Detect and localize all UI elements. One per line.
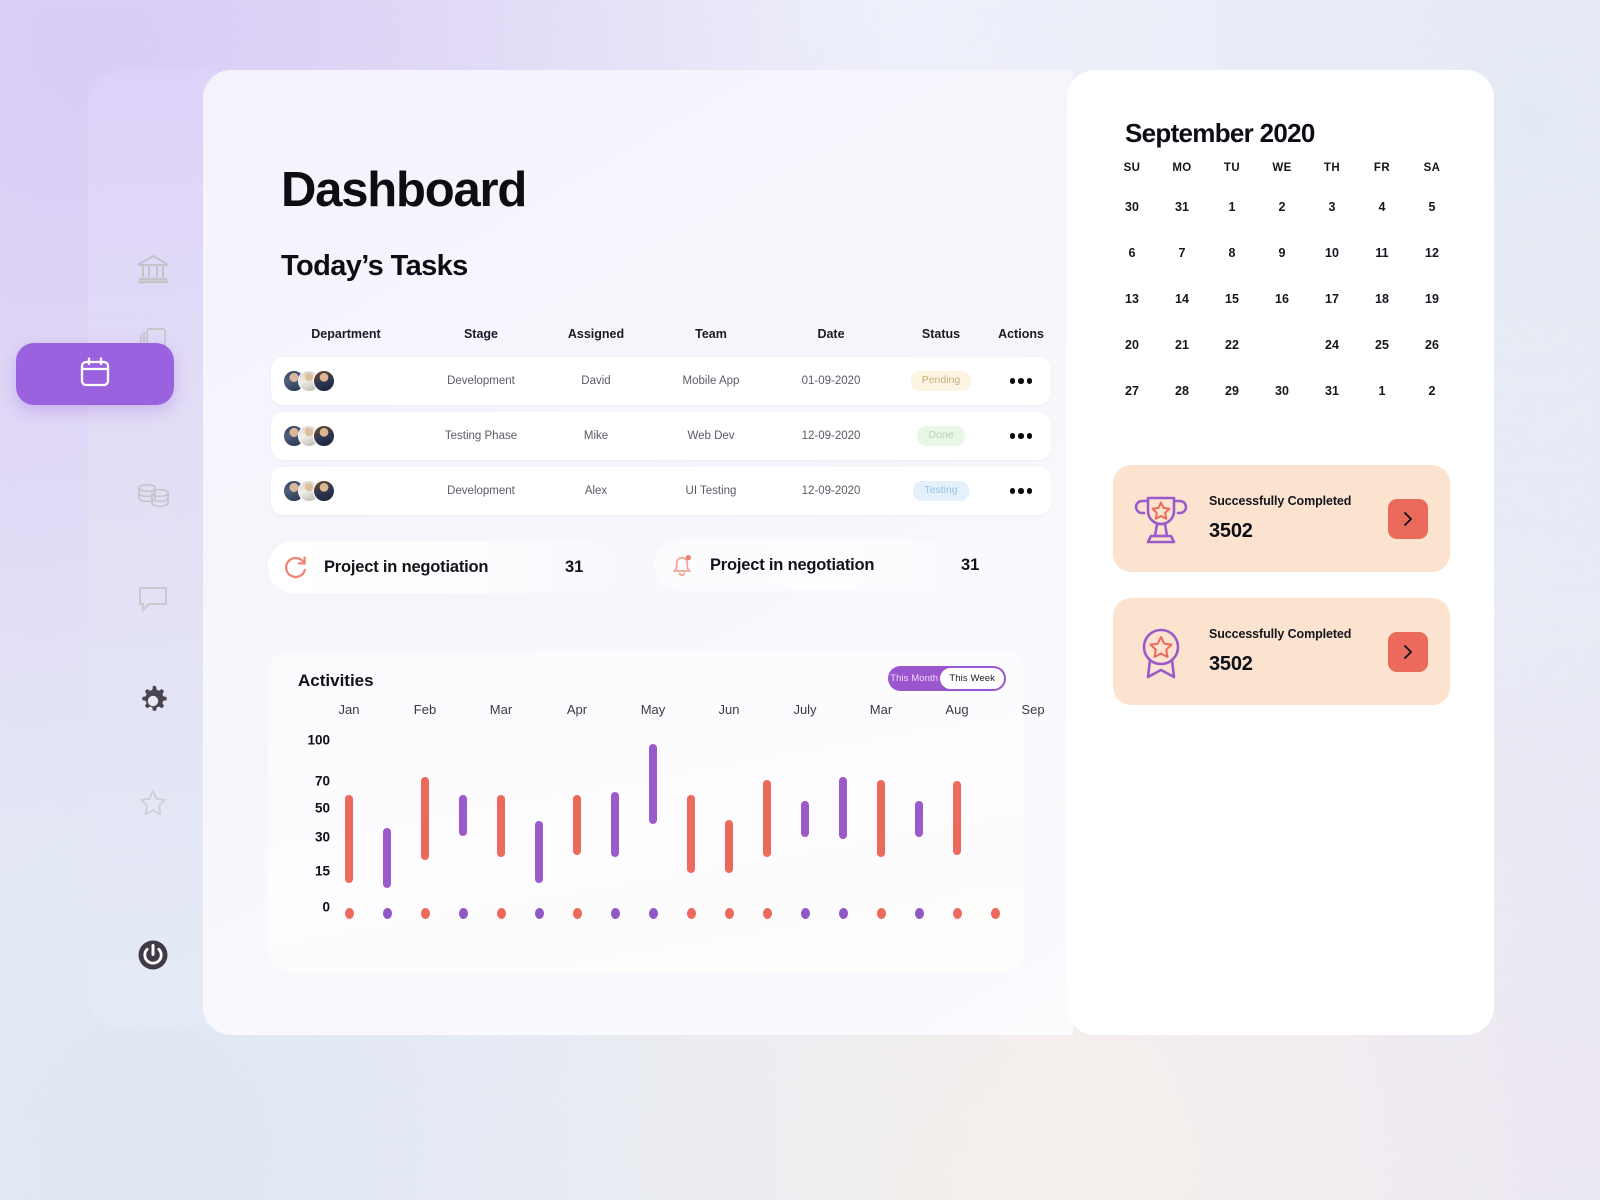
calendar-day-label: 13 xyxy=(1125,292,1139,306)
chart-bar xyxy=(535,821,543,883)
bank-icon xyxy=(136,253,170,285)
calendar-day-label: 14 xyxy=(1175,292,1189,306)
calendar-day[interactable]: 7 xyxy=(1157,240,1207,266)
calendar-day[interactable]: 19 xyxy=(1407,286,1457,312)
cell-stage: Testing Phase xyxy=(421,430,541,442)
calendar-day-label: 31 xyxy=(1325,384,1339,398)
cell-team: Mobile App xyxy=(651,375,771,387)
calendar-day-label: 7 xyxy=(1179,246,1186,260)
x-axis-tick-label: Feb xyxy=(414,702,436,717)
calendar-grid: SU MO TU WE TH FR SA 3031123456789101112… xyxy=(1107,162,1457,404)
project-negotiation-card[interactable]: Project in negotiation 31 xyxy=(654,539,1004,591)
calendar-day[interactable]: 24 xyxy=(1307,332,1357,358)
status-badge: Pending xyxy=(911,371,972,391)
cell-stage: Development xyxy=(421,375,541,387)
trophy-icon xyxy=(1113,488,1209,550)
calendar-day-selected[interactable]: 23 xyxy=(1257,332,1307,358)
chart-baseline-dot xyxy=(497,908,506,919)
calendar-day[interactable]: 30 xyxy=(1257,378,1307,404)
range-toggle[interactable]: This Month This Week xyxy=(888,666,1006,691)
sidebar-item-calendar[interactable] xyxy=(16,343,174,405)
y-axis-tick-label: 70 xyxy=(315,774,330,789)
chart-baseline-dot xyxy=(459,908,468,919)
chart-baseline-dot xyxy=(801,908,810,919)
stat-arrow-button[interactable] xyxy=(1388,499,1428,539)
table-header-row: Department Stage Assigned Team Date Stat… xyxy=(271,318,1051,350)
calendar-day[interactable]: 21 xyxy=(1157,332,1207,358)
calendar-day[interactable]: 6 xyxy=(1107,240,1157,266)
x-axis-tick-label: Mar xyxy=(490,702,512,717)
calendar-day-label: 31 xyxy=(1175,200,1189,214)
chart-bar xyxy=(763,780,771,858)
sidebar-item-favorites[interactable] xyxy=(114,772,192,834)
calendar-day-label: 30 xyxy=(1125,200,1139,214)
section-title: Today’s Tasks xyxy=(281,250,468,283)
column-header-department: Department xyxy=(271,327,421,341)
calendar-day[interactable]: 29 xyxy=(1207,378,1257,404)
chart-bar xyxy=(687,795,695,874)
calendar-day-label: 2 xyxy=(1429,384,1436,398)
calendar-week-row: 13141516171819 xyxy=(1107,286,1457,312)
database-icon xyxy=(136,481,170,509)
table-row[interactable]: Development Alex UI Testing 12-09-2020 T… xyxy=(271,467,1051,515)
chart-baseline-dot xyxy=(345,908,354,919)
avatar-group xyxy=(271,425,421,447)
row-actions-button[interactable] xyxy=(991,433,1051,439)
calendar-day-label: 25 xyxy=(1375,338,1389,352)
activities-chart-card: Activities This Month This Week JanFebMa… xyxy=(268,650,1024,972)
chart-baseline-dot xyxy=(611,908,620,919)
project-negotiation-card[interactable]: Project in negotiation 31 xyxy=(268,541,618,593)
table-row[interactable]: Testing Phase Mike Web Dev 12-09-2020 Do… xyxy=(271,412,1051,460)
stat-label: Successfully Completed xyxy=(1209,494,1388,508)
status-badge: Testing xyxy=(913,481,968,501)
tasks-table: Department Stage Assigned Team Date Stat… xyxy=(271,318,1051,515)
chart-baseline-dot xyxy=(649,908,658,919)
chart-baseline-dot xyxy=(953,908,962,919)
chart-bar xyxy=(459,795,467,836)
calendar-day-label: 2 xyxy=(1279,200,1286,214)
cell-assigned: Mike xyxy=(541,430,651,442)
calendar-day-label: 4 xyxy=(1379,200,1386,214)
calendar-day-label: 1 xyxy=(1379,384,1386,398)
column-header-date: Date xyxy=(771,327,891,341)
calendar-week-row: 303112345 xyxy=(1107,194,1457,220)
calendar-day-label: 1 xyxy=(1229,200,1236,214)
cell-team: Web Dev xyxy=(651,430,771,442)
calendar-day[interactable]: 9 xyxy=(1257,240,1307,266)
more-options-icon[interactable] xyxy=(991,378,1051,384)
calendar-day[interactable]: 10 xyxy=(1307,240,1357,266)
calendar-day[interactable]: 20 xyxy=(1107,332,1157,358)
stat-body: Successfully Completed 3502 xyxy=(1209,494,1388,543)
x-axis-tick-label: July xyxy=(793,702,816,717)
chart-baseline-dot xyxy=(915,908,924,919)
bell-icon xyxy=(654,550,710,580)
cell-assigned: David xyxy=(541,375,651,387)
toggle-this-month[interactable]: This Month xyxy=(888,673,940,684)
chart-bar xyxy=(421,777,429,860)
calendar-day[interactable]: 27 xyxy=(1107,378,1157,404)
calendar-day[interactable]: 1 xyxy=(1357,378,1407,404)
calendar-day-label: 28 xyxy=(1175,384,1189,398)
chart-baseline-dot xyxy=(877,908,886,919)
calendar-day-label: 26 xyxy=(1425,338,1439,352)
calendar-day-label: 9 xyxy=(1279,246,1286,260)
more-options-icon[interactable] xyxy=(991,433,1051,439)
sidebar-item-logout[interactable] xyxy=(114,924,192,986)
chart-bar xyxy=(649,744,657,824)
calendar-day-label: 29 xyxy=(1225,384,1239,398)
weekday-tu: TU xyxy=(1207,162,1257,174)
chart-bar xyxy=(953,781,961,855)
calendar-day[interactable]: 8 xyxy=(1207,240,1257,266)
calendar-day[interactable]: 28 xyxy=(1157,378,1207,404)
calendar-day-label: 15 xyxy=(1225,292,1239,306)
calendar-day[interactable]: 16 xyxy=(1257,286,1307,312)
calendar-day[interactable]: 18 xyxy=(1357,286,1407,312)
stat-label: Successfully Completed xyxy=(1209,627,1388,641)
stat-value: 3502 xyxy=(1209,653,1388,676)
chart-bar xyxy=(915,801,923,837)
negotiation-count: 31 xyxy=(565,558,583,577)
calendar-week-row: 20212223242526 xyxy=(1107,332,1457,358)
chevron-right-icon xyxy=(1401,510,1415,528)
calendar-day[interactable]: 3 xyxy=(1307,194,1357,220)
column-header-actions: Actions xyxy=(991,327,1051,341)
weekday-we: WE xyxy=(1257,162,1307,174)
toggle-this-week[interactable]: This Week xyxy=(940,668,1004,689)
x-axis-tick-label: Mar xyxy=(870,702,892,717)
chart-plot-area xyxy=(330,740,1014,940)
calendar-day-label: 12 xyxy=(1425,246,1439,260)
calendar-icon xyxy=(78,355,112,394)
sidebar xyxy=(88,70,218,1030)
stat-arrow-button[interactable] xyxy=(1388,632,1428,672)
cell-date: 12-09-2020 xyxy=(771,430,891,442)
calendar-day-label: 8 xyxy=(1229,246,1236,260)
avatar xyxy=(313,425,335,447)
chart-bar xyxy=(877,780,885,858)
calendar-day-label: 11 xyxy=(1375,246,1388,260)
column-header-team: Team xyxy=(651,327,771,341)
calendar-day-label: 24 xyxy=(1325,338,1339,352)
stat-card[interactable]: Successfully Completed 3502 xyxy=(1113,465,1450,572)
cell-team: UI Testing xyxy=(651,485,771,497)
column-header-status: Status xyxy=(891,327,991,341)
sidebar-item-database[interactable] xyxy=(114,464,192,526)
calendar-month-title: September 2020 xyxy=(1125,118,1315,149)
weekday-mo: MO xyxy=(1157,162,1207,174)
x-axis-tick-label: Sep xyxy=(1021,702,1044,717)
x-axis-tick-label: Jun xyxy=(719,702,740,717)
calendar-day-label: 17 xyxy=(1325,292,1339,306)
chart-bar xyxy=(573,795,581,856)
x-axis-tick-label: May xyxy=(641,702,666,717)
chart-bar xyxy=(497,795,505,858)
calendar-day[interactable]: 30 xyxy=(1107,194,1157,220)
stat-card[interactable]: Successfully Completed 3502 xyxy=(1113,598,1450,705)
cell-status: Testing xyxy=(891,481,991,501)
calendar-day[interactable]: 31 xyxy=(1157,194,1207,220)
calendar-day-label: 10 xyxy=(1325,246,1339,260)
calendar-day-label: 3 xyxy=(1329,200,1336,214)
table-row[interactable]: Development David Mobile App 01-09-2020 … xyxy=(271,357,1051,405)
calendar-day[interactable]: 14 xyxy=(1157,286,1207,312)
calendar-day-label: 18 xyxy=(1375,292,1389,306)
calendar-day[interactable]: 2 xyxy=(1407,378,1457,404)
y-axis-tick-label: 0 xyxy=(322,900,330,915)
calendar-day-label: 6 xyxy=(1129,246,1136,260)
avatar xyxy=(313,480,335,502)
sidebar-item-bank[interactable] xyxy=(114,238,192,300)
chart-x-axis: JanFebMarAprMayJunJulyMarAugSepOctNov xyxy=(268,702,1024,722)
calendar-weekday-headers: SU MO TU WE TH FR SA xyxy=(1107,162,1457,174)
column-header-assigned: Assigned xyxy=(541,327,651,341)
power-icon xyxy=(137,939,169,971)
chat-icon xyxy=(137,584,169,614)
stat-body: Successfully Completed 3502 xyxy=(1209,627,1388,676)
calendar-day-label: 27 xyxy=(1125,384,1139,398)
calendar-day-label: 5 xyxy=(1429,200,1436,214)
cell-status: Pending xyxy=(891,371,991,391)
calendar-weeks: 3031123456789101112131415161718192021222… xyxy=(1107,194,1457,404)
status-badge: Done xyxy=(917,426,964,446)
row-actions-button[interactable] xyxy=(991,488,1051,494)
chart-bar xyxy=(383,828,391,888)
weekday-fr: FR xyxy=(1357,162,1407,174)
calendar-day[interactable]: 2 xyxy=(1257,194,1307,220)
cell-status: Done xyxy=(891,426,991,446)
calendar-week-row: 272829303112 xyxy=(1107,378,1457,404)
calendar-day-label: 21 xyxy=(1175,338,1189,352)
calendar-day[interactable]: 11 xyxy=(1357,240,1407,266)
negotiation-label: Project in negotiation xyxy=(710,556,874,575)
calendar-day-label: 22 xyxy=(1225,338,1239,352)
cell-assigned: Alex xyxy=(541,485,651,497)
calendar-day[interactable]: 5 xyxy=(1407,194,1457,220)
calendar-day[interactable]: 31 xyxy=(1307,378,1357,404)
chevron-right-icon xyxy=(1401,643,1415,661)
calendar-day[interactable]: 17 xyxy=(1307,286,1357,312)
avatar-group xyxy=(271,370,421,392)
calendar-day-label: 23 xyxy=(1275,338,1288,352)
x-axis-tick-label: Jan xyxy=(339,702,360,717)
column-header-stage: Stage xyxy=(421,327,541,341)
weekday-th: TH xyxy=(1307,162,1357,174)
more-options-icon[interactable] xyxy=(991,488,1051,494)
y-axis-tick-label: 100 xyxy=(307,733,330,748)
weekday-sa: SA xyxy=(1407,162,1457,174)
star-icon xyxy=(138,788,168,818)
chart-baseline-dot xyxy=(687,908,696,919)
stat-value: 3502 xyxy=(1209,520,1388,543)
page-title: Dashboard xyxy=(281,162,526,218)
sidebar-item-settings[interactable] xyxy=(114,670,192,732)
weekday-su: SU xyxy=(1107,162,1157,174)
avatar xyxy=(313,370,335,392)
refresh-icon xyxy=(268,553,324,581)
calendar-day[interactable]: 25 xyxy=(1357,332,1407,358)
chart-baseline-dot xyxy=(763,908,772,919)
calendar-day-label: 19 xyxy=(1425,292,1439,306)
x-axis-tick-label: Apr xyxy=(567,702,587,717)
y-axis-tick-label: 30 xyxy=(315,830,330,845)
negotiation-count: 31 xyxy=(961,556,979,575)
chart-baseline-dot xyxy=(421,908,430,919)
calendar-day[interactable]: 22 xyxy=(1207,332,1257,358)
chart-baseline-dot xyxy=(725,908,734,919)
avatar-group xyxy=(271,480,421,502)
row-actions-button[interactable] xyxy=(991,378,1051,384)
chart-bar xyxy=(345,795,353,884)
chart-bar xyxy=(725,820,733,874)
activities-title: Activities xyxy=(298,671,374,691)
calendar-day-label: 30 xyxy=(1275,384,1289,398)
calendar-day[interactable]: 4 xyxy=(1357,194,1407,220)
cell-date: 12-09-2020 xyxy=(771,485,891,497)
calendar-day[interactable]: 12 xyxy=(1407,240,1457,266)
calendar-day[interactable]: 26 xyxy=(1407,332,1457,358)
chart-baseline-dot xyxy=(839,908,848,919)
chart-baseline-dot xyxy=(535,908,544,919)
gear-icon xyxy=(136,684,170,718)
negotiation-label: Project in negotiation xyxy=(324,558,488,577)
award-ribbon-icon xyxy=(1113,621,1209,683)
chart-bar xyxy=(611,792,619,858)
chart-baseline-dot xyxy=(573,908,582,919)
calendar-day[interactable]: 15 xyxy=(1207,286,1257,312)
y-axis-tick-label: 50 xyxy=(315,801,330,816)
y-axis-tick-label: 15 xyxy=(315,864,330,879)
chart-baseline-dot xyxy=(991,908,1000,919)
cell-date: 01-09-2020 xyxy=(771,375,891,387)
calendar-day[interactable]: 1 xyxy=(1207,194,1257,220)
chart-baseline-dot xyxy=(383,908,392,919)
x-axis-tick-label: Aug xyxy=(945,702,968,717)
chart-bar xyxy=(839,777,847,839)
calendar-week-row: 6789101112 xyxy=(1107,240,1457,266)
calendar-day-label: 16 xyxy=(1275,292,1289,306)
chart-bar xyxy=(801,801,809,837)
cell-stage: Development xyxy=(421,485,541,497)
sidebar-item-messages[interactable] xyxy=(114,568,192,630)
calendar-day[interactable]: 13 xyxy=(1107,286,1157,312)
calendar-day-label: 20 xyxy=(1125,338,1139,352)
